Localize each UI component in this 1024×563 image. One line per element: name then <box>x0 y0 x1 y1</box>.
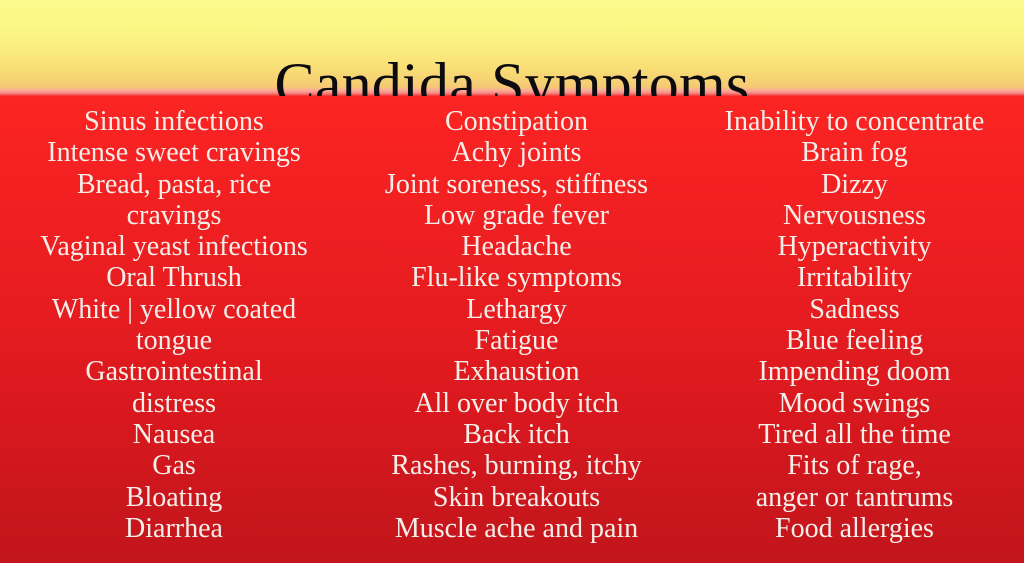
list-item: cravings <box>0 200 348 231</box>
list-item: Gastrointestinal <box>0 356 348 387</box>
list-item: Diarrhea <box>0 513 348 544</box>
list-item: White | yellow coated <box>0 294 348 325</box>
list-item: Sadness <box>685 294 1024 325</box>
list-item: Oral Thrush <box>0 262 348 293</box>
list-item: Joint soreness, stiffness <box>348 169 685 200</box>
list-item: Impending doom <box>685 356 1024 387</box>
list-item: Nervousness <box>685 200 1024 231</box>
list-item: Irritability <box>685 262 1024 293</box>
list-item: Vaginal yeast infections <box>0 231 348 262</box>
list-item: Brain fog <box>685 137 1024 168</box>
candida-symptoms-poster: Candida Symptoms Sinus infectionsIntense… <box>0 0 1024 563</box>
list-item: Lethargy <box>348 294 685 325</box>
symptom-column-2: ConstipationAchy jointsJoint soreness, s… <box>348 96 685 544</box>
list-item: Fatigue <box>348 325 685 356</box>
list-item: distress <box>0 388 348 419</box>
list-item: Tired all the time <box>685 419 1024 450</box>
list-item: Sinus infections <box>0 106 348 137</box>
list-item: Rashes, burning, itchy <box>348 450 685 481</box>
list-item: Blue feeling <box>685 325 1024 356</box>
list-item: Headache <box>348 231 685 262</box>
symptom-column-3: Inability to concentrateBrain fogDizzyNe… <box>685 96 1024 544</box>
list-item: Constipation <box>348 106 685 137</box>
list-item: Flu-like symptoms <box>348 262 685 293</box>
list-item: anger or tantrums <box>685 482 1024 513</box>
symptom-column-1: Sinus infectionsIntense sweet cravingsBr… <box>0 96 348 544</box>
list-item: tongue <box>0 325 348 356</box>
list-item: Bloating <box>0 482 348 513</box>
list-item: Intense sweet cravings <box>0 137 348 168</box>
list-item: Achy joints <box>348 137 685 168</box>
list-item: Hyperactivity <box>685 231 1024 262</box>
list-item: Skin breakouts <box>348 482 685 513</box>
list-item: Bread, pasta, rice <box>0 169 348 200</box>
list-item: Gas <box>0 450 348 481</box>
list-item: Muscle ache and pain <box>348 513 685 544</box>
list-item: Back itch <box>348 419 685 450</box>
list-item: Inability to concentrate <box>685 106 1024 137</box>
list-item: Food allergies <box>685 513 1024 544</box>
list-item: Exhaustion <box>348 356 685 387</box>
list-item: Mood swings <box>685 388 1024 419</box>
symptom-columns: Sinus infectionsIntense sweet cravingsBr… <box>0 96 1024 563</box>
list-item: Nausea <box>0 419 348 450</box>
list-item: Fits of rage, <box>685 450 1024 481</box>
list-item: Low grade fever <box>348 200 685 231</box>
list-item: All over body itch <box>348 388 685 419</box>
list-item: Dizzy <box>685 169 1024 200</box>
